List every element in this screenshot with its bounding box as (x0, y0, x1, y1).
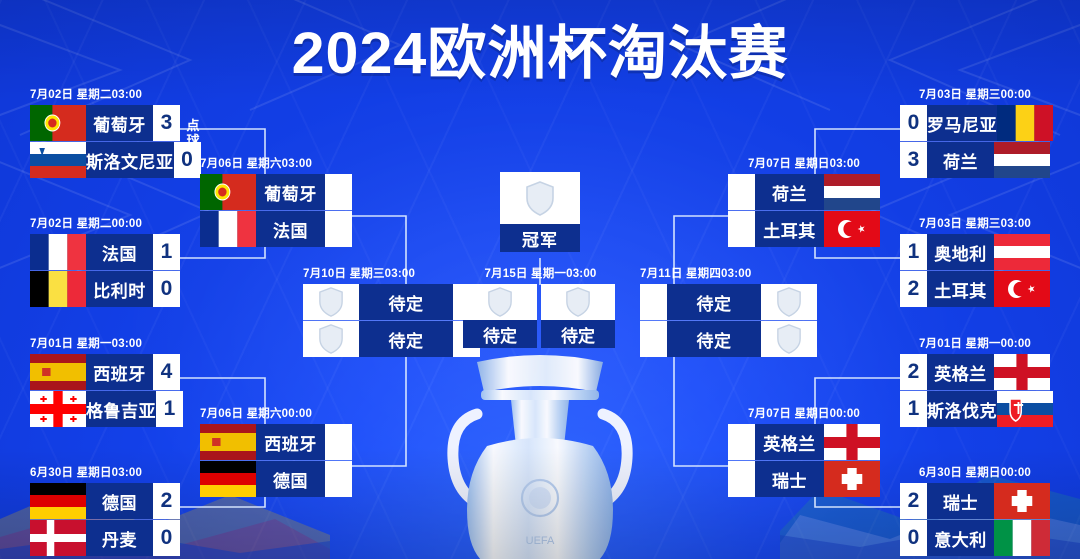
match-row[interactable]: 待定 (640, 284, 817, 320)
flag-england (994, 354, 1050, 390)
team-name: 瑞士 (755, 461, 824, 497)
team-name: 意大利 (927, 520, 994, 556)
match-row[interactable]: 德国 2 (30, 483, 180, 519)
team-score (728, 211, 755, 247)
match-row[interactable]: 格鲁吉亚 1 (30, 390, 180, 427)
team-score: 1 (153, 234, 180, 270)
match-row[interactable]: 葡萄牙 (200, 174, 352, 210)
team-score: 0 (900, 520, 927, 556)
match-row[interactable]: 待定 (303, 284, 480, 320)
team-score: 3 (900, 142, 927, 178)
team-score (325, 424, 352, 460)
match-row[interactable]: 英格兰 (728, 424, 880, 460)
team-score (728, 424, 755, 460)
flag-netherlands (994, 142, 1050, 178)
match-row[interactable]: 荷兰 (728, 174, 880, 210)
shield-placeholder-icon (525, 181, 555, 216)
team-score: 2 (900, 271, 927, 307)
match-date: 7月03日 星期三03:00 (900, 218, 1050, 231)
bracket-stage: UEFA 2024欧洲杯淘汰赛 (0, 0, 1080, 559)
match-row[interactable]: 1 奥地利 (900, 234, 1050, 270)
match-card[interactable]: 6月30日 星期日00:00 2 瑞士 0 意大利 (900, 467, 1050, 556)
match-row[interactable]: 西班牙 4 (30, 354, 180, 390)
team-score (728, 174, 755, 210)
match-row[interactable]: 土耳其 (728, 210, 880, 247)
match-row[interactable]: 法国 1 (30, 234, 180, 270)
team-name: 瑞士 (927, 483, 994, 519)
match-date: 7月02日 星期二03:00 (30, 89, 180, 102)
match-row[interactable]: 瑞士 (728, 460, 880, 497)
match-card[interactable]: 6月30日 星期日03:00 德国 2 丹麦 0 (30, 467, 180, 556)
match-card[interactable]: 7月06日 星期六03:00 葡萄牙 法国 (200, 158, 352, 247)
team-score: 4 (153, 354, 180, 390)
team-name: 西班牙 (256, 424, 325, 460)
team-name: 法国 (256, 211, 325, 247)
flag-slovakia (997, 391, 1053, 427)
match-card[interactable]: 7月03日 星期三00:00 0 罗马尼亚 3 荷兰 (900, 89, 1050, 178)
flag-portugal (30, 105, 86, 141)
match-date: 7月01日 星期一00:00 (900, 338, 1050, 351)
team-name: 土耳其 (755, 211, 824, 247)
match-card[interactable]: 7月06日 星期六00:00 西班牙 德国 (200, 408, 352, 497)
champion-card: 冠军 (500, 172, 580, 252)
match-date: 6月30日 星期日03:00 (30, 467, 180, 480)
match-row[interactable]: 0 罗马尼亚 (900, 105, 1050, 141)
flag-austria (994, 234, 1050, 270)
team-name: 英格兰 (755, 424, 824, 460)
flag-turkey (824, 211, 880, 247)
shield-placeholder-icon (761, 284, 817, 320)
team-score: 0 (900, 105, 927, 141)
match-row[interactable]: 2 瑞士 (900, 483, 1050, 519)
team-score (728, 461, 755, 497)
team-score: 0 (153, 271, 180, 307)
team-name: 待定 (541, 320, 615, 348)
team-score: 1 (900, 234, 927, 270)
team-score (640, 284, 667, 320)
team-name: 荷兰 (927, 142, 994, 178)
match-row[interactable]: 斯洛文尼亚 0 (30, 141, 180, 178)
flag-georgia (30, 391, 86, 427)
match-card[interactable]: 7月02日 星期二00:00 法国 1 比利时 0 (30, 218, 180, 307)
team-score: 2 (153, 483, 180, 519)
match-card[interactable]: 7月03日 星期三03:00 1 奥地利 2 土耳其 (900, 218, 1050, 307)
match-date: 7月15日 星期一03:00 (463, 268, 618, 281)
team-name: 西班牙 (86, 354, 153, 390)
match-row[interactable]: 1 斯洛伐克 (900, 390, 1050, 427)
shield-placeholder-icon (303, 284, 359, 320)
team-name: 待定 (359, 284, 453, 320)
match-row[interactable]: 法国 (200, 210, 352, 247)
team-name: 奥地利 (927, 234, 994, 270)
penalty-note: 点球 (186, 118, 200, 148)
team-name: 法国 (86, 234, 153, 270)
flag-turkey (994, 271, 1050, 307)
flag-romania (997, 105, 1053, 141)
match-date: 7月07日 星期日00:00 (728, 408, 880, 421)
team-name: 待定 (463, 320, 537, 348)
flag-germany (30, 483, 86, 519)
team-score (325, 211, 352, 247)
final-slot[interactable]: 待定 (541, 284, 615, 348)
team-score (325, 461, 352, 497)
flag-netherlands (824, 174, 880, 210)
match-row[interactable]: 德国 (200, 460, 352, 497)
team-name: 格鲁吉亚 (86, 391, 156, 427)
team-name: 罗马尼亚 (927, 105, 997, 141)
flag-italy (994, 520, 1050, 556)
team-name: 待定 (667, 321, 761, 357)
match-row[interactable]: 丹麦 0 (30, 519, 180, 556)
flag-switzerland (994, 483, 1050, 519)
match-card[interactable]: 7月10日 星期三03:00 待定 待定 (303, 268, 480, 357)
flag-france (30, 234, 86, 270)
team-name: 待定 (359, 321, 453, 357)
match-card[interactable]: 7月01日 星期一03:00 西班牙 4 格鲁吉亚 1 (30, 338, 180, 427)
final-card[interactable]: 7月15日 星期一03:00 待定 待定 (463, 268, 618, 348)
match-date: 7月06日 星期六00:00 (200, 408, 352, 421)
flag-switzerland (824, 461, 880, 497)
team-score (640, 321, 667, 357)
flag-belgium (30, 271, 86, 307)
team-score (325, 174, 352, 210)
match-card[interactable]: 7月02日 星期二03:00 葡萄牙 3 斯洛文尼亚 0 (30, 89, 180, 178)
team-name: 德国 (256, 461, 325, 497)
match-row[interactable]: 2 英格兰 (900, 354, 1050, 390)
match-row[interactable]: 待定 (303, 320, 480, 357)
champion-shield (500, 172, 580, 224)
shield-placeholder-icon (303, 321, 359, 357)
flag-france (200, 211, 256, 247)
team-score: 2 (900, 354, 927, 390)
match-row[interactable]: 比利时 0 (30, 270, 180, 307)
match-card[interactable]: 7月07日 星期日03:00 荷兰 土耳其 (728, 158, 880, 247)
match-date: 7月10日 星期三03:00 (303, 268, 480, 281)
team-score: 1 (156, 391, 183, 427)
team-name: 土耳其 (927, 271, 994, 307)
match-date: 7月06日 星期六03:00 (200, 158, 352, 171)
shield-placeholder-icon (541, 284, 615, 320)
champion-label: 冠军 (500, 224, 580, 252)
flag-spain (200, 424, 256, 460)
page-title: 2024欧洲杯淘汰赛 (0, 22, 1080, 86)
team-name: 荷兰 (755, 174, 824, 210)
team-name: 斯洛文尼亚 (86, 142, 174, 178)
match-row[interactable]: 西班牙 (200, 424, 352, 460)
team-name: 葡萄牙 (256, 174, 325, 210)
match-card[interactable]: 7月01日 星期一00:00 2 英格兰 1 斯洛伐克 (900, 338, 1050, 427)
match-row[interactable]: 0 意大利 (900, 519, 1050, 556)
team-name: 比利时 (86, 271, 153, 307)
team-score: 0 (153, 520, 180, 556)
flag-england (824, 424, 880, 460)
match-date: 7月01日 星期一03:00 (30, 338, 180, 351)
match-row[interactable]: 2 土耳其 (900, 270, 1050, 307)
shield-placeholder-icon (463, 284, 537, 320)
team-name: 德国 (86, 483, 153, 519)
flag-portugal (200, 174, 256, 210)
shield-placeholder-icon (761, 321, 817, 357)
match-card[interactable]: 7月11日 星期四03:00 待定 待定 (640, 268, 817, 357)
match-row[interactable]: 3 荷兰 (900, 141, 1050, 178)
match-date: 7月02日 星期二00:00 (30, 218, 180, 231)
match-date: 6月30日 星期日00:00 (900, 467, 1050, 480)
team-name: 英格兰 (927, 354, 994, 390)
flag-germany (200, 461, 256, 497)
flag-denmark (30, 520, 86, 556)
flag-slovenia (30, 142, 86, 178)
match-date: 7月07日 星期日03:00 (728, 158, 880, 171)
match-date: 7月11日 星期四03:00 (640, 268, 817, 281)
team-name: 丹麦 (86, 520, 153, 556)
team-score: 1 (900, 391, 927, 427)
flag-spain (30, 354, 86, 390)
team-name: 待定 (667, 284, 761, 320)
match-row[interactable]: 待定 (640, 320, 817, 357)
team-name: 斯洛伐克 (927, 391, 997, 427)
team-score: 3 (153, 105, 180, 141)
team-score: 2 (900, 483, 927, 519)
final-slot[interactable]: 待定 (463, 284, 537, 348)
match-card[interactable]: 7月07日 星期日00:00 英格兰 瑞士 (728, 408, 880, 497)
match-date: 7月03日 星期三00:00 (900, 89, 1050, 102)
match-row[interactable]: 葡萄牙 3 (30, 105, 180, 141)
team-name: 葡萄牙 (86, 105, 153, 141)
